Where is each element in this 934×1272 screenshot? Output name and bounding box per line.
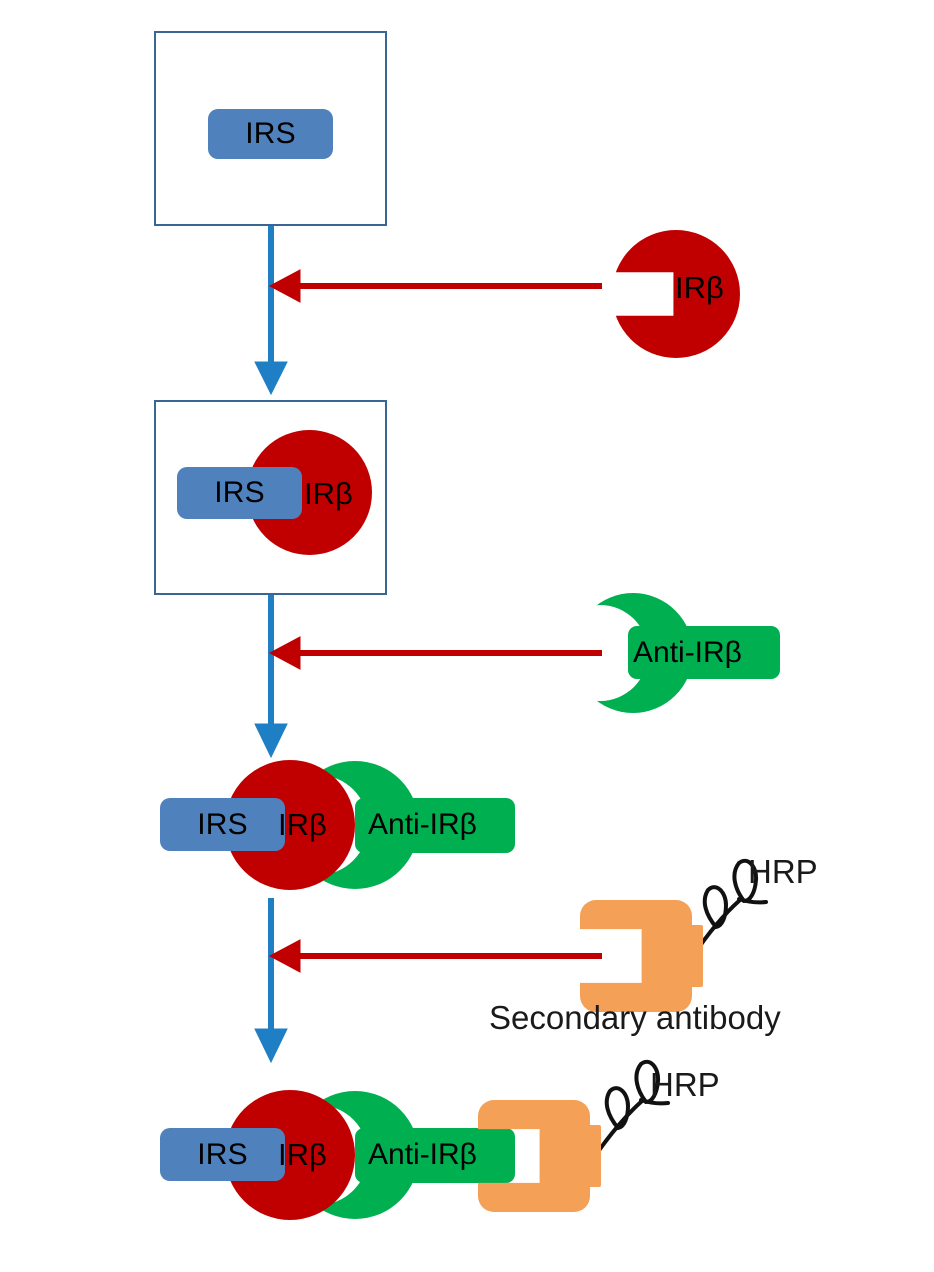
ir-beta-label-step-3: IRβ	[278, 809, 327, 840]
flow-arrow-2	[255, 595, 287, 757]
irs-label: IRS	[197, 1140, 248, 1170]
irs-chip-step-3[interactable]: IRS	[160, 798, 285, 851]
reagent-arrow-anti-ir-beta	[270, 637, 602, 669]
ir-beta-label-step-2: IRβ	[304, 478, 353, 509]
irs-label: IRS	[245, 119, 296, 149]
ir-beta-reagent-label: IRβ	[675, 272, 724, 303]
anti-ir-beta-reagent-label: Anti-IRβ	[633, 638, 742, 668]
anti-ir-beta-label-step-3: Anti-IRβ	[368, 810, 477, 840]
figure-canvas: IRS IRβ IRS IRβ Anti-IRβ IRS IRβ Anti-IR…	[0, 0, 934, 1272]
reagent-arrow-ir-beta	[270, 270, 602, 302]
irs-chip-step-1[interactable]: IRS	[208, 109, 333, 159]
irs-label: IRS	[197, 810, 248, 840]
irs-chip-step-2[interactable]: IRS	[177, 467, 302, 519]
irs-chip-step-4[interactable]: IRS	[160, 1128, 285, 1181]
arrow-and-crescent-layer	[0, 0, 934, 1272]
secondary-antibody-caption: Secondary antibody	[489, 1001, 781, 1034]
flow-arrow-3	[255, 898, 287, 1062]
reagent-arrow-secondary-antibody	[270, 940, 602, 972]
secondary-antibody-tail-step-4[interactable]	[553, 1125, 601, 1187]
hrp-label-step-4: HRP	[650, 1068, 720, 1101]
irs-label: IRS	[214, 478, 265, 508]
hrp-label-reagent: HRP	[748, 855, 818, 888]
ir-beta-label-step-4: IRβ	[278, 1139, 327, 1170]
secondary-antibody-tail-reagent[interactable]	[655, 925, 703, 987]
flow-arrow-1	[255, 226, 287, 394]
anti-ir-beta-label-step-4: Anti-IRβ	[368, 1140, 477, 1170]
